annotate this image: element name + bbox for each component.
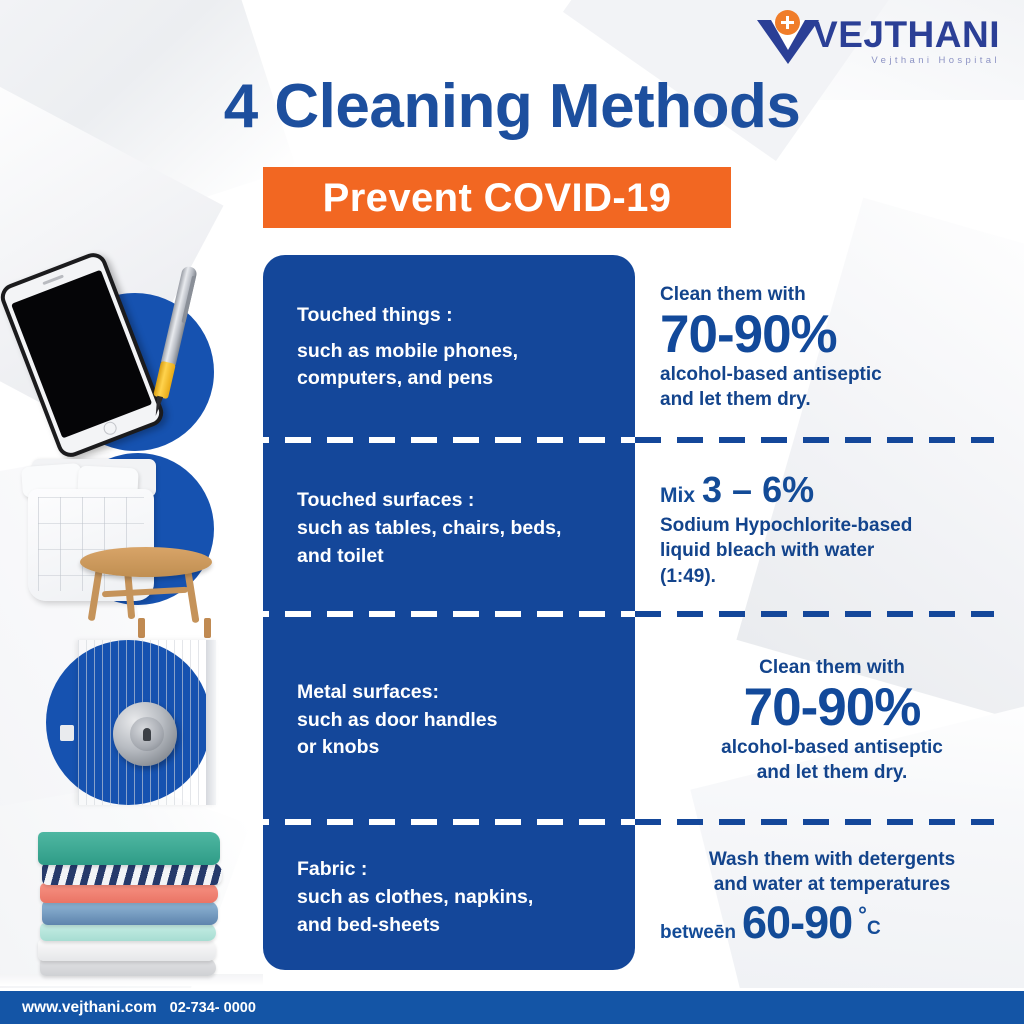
mix-value: 3 – 6% bbox=[702, 469, 814, 511]
folded-clothes-photo bbox=[0, 826, 263, 970]
label-touched-surfaces: Touched surfaces : such as tables, chair… bbox=[263, 443, 635, 615]
wooden-table-icon bbox=[80, 547, 212, 577]
detail-touched-surfaces: Mix 3 – 6% Sodium Hypochlorite-based liq… bbox=[635, 443, 1024, 615]
logo-brand-subtitle: Vejthani Hospital bbox=[813, 55, 1000, 66]
subtitle-text: Prevent COVID-19 bbox=[323, 178, 672, 218]
medical-cross-icon bbox=[775, 10, 800, 35]
detail-body-text: Sodium Hypochlorite-based liquid bleach … bbox=[660, 513, 1004, 588]
detail-body-text: alcohol-based antiseptic and let them dr… bbox=[660, 735, 1004, 785]
detail-big-value: 70-90% bbox=[660, 308, 1004, 362]
method-row-touched-surfaces: Touched surfaces : such as tables, chair… bbox=[0, 443, 1024, 615]
door-knob-photo bbox=[0, 618, 263, 823]
smartphone-icon bbox=[0, 249, 167, 461]
vejthani-logo: VEJTHANI Vejthani Hospital bbox=[757, 12, 1000, 70]
degree-symbol-icon: ° bbox=[858, 902, 867, 928]
detail-mix-line: Mix 3 – 6% bbox=[660, 469, 1004, 511]
detail-touched-things: Clean them with 70-90% alcohol-based ant… bbox=[635, 255, 1024, 440]
detail-fabric: Wash them with detergents and water at t… bbox=[635, 826, 1024, 970]
label-touched-things: Touched things : such as mobile phones, … bbox=[263, 255, 635, 440]
detail-body-text: Wash them with detergents and water at t… bbox=[660, 847, 1004, 897]
label-examples: such as tables, chairs, beds, and toilet bbox=[297, 515, 603, 570]
infographic-poster: VEJTHANI Vejthani Hospital 4 Cleaning Me… bbox=[0, 0, 1024, 1024]
footer-bar: www.vejthani.com 02-734- 0000 bbox=[0, 988, 1024, 1024]
footer-phone-number[interactable]: 02-734- 0000 bbox=[170, 1000, 256, 1016]
label-heading: Fabric : bbox=[297, 856, 603, 884]
phone-and-pen-photo bbox=[0, 255, 263, 440]
subtitle-banner: Prevent COVID-19 bbox=[263, 167, 731, 228]
method-row-metal-surfaces: Metal surfaces: such as door handles or … bbox=[0, 618, 1024, 823]
keyhole-icon bbox=[143, 728, 151, 741]
logo-brand-name: VEJTHANI bbox=[813, 16, 1000, 53]
label-heading: Touched surfaces : bbox=[297, 487, 603, 515]
temperature-value: 60-90 bbox=[742, 897, 852, 949]
label-heading: Touched things : bbox=[297, 302, 603, 330]
label-metal-surfaces: Metal surfaces: such as door handles or … bbox=[263, 618, 635, 823]
row-divider-2 bbox=[263, 611, 994, 617]
method-row-fabric: Fabric : such as clothes, napkins, and b… bbox=[0, 826, 1024, 970]
detail-body-text: alcohol-based antiseptic and let them dr… bbox=[660, 362, 1004, 412]
bed-duvet-icon bbox=[28, 489, 154, 601]
label-examples: such as mobile phones, computers, and pe… bbox=[297, 338, 603, 393]
detail-temperature-line: betweēn 60-90 ° C bbox=[660, 897, 1004, 949]
method-row-touched-things: Touched things : such as mobile phones, … bbox=[0, 255, 1024, 440]
detail-big-value: 70-90% bbox=[660, 681, 1004, 735]
footer-website-link[interactable]: www.vejthani.com bbox=[22, 999, 157, 1017]
page-title: 4 Cleaning Methods bbox=[0, 76, 1024, 138]
logo-v-mark-icon bbox=[757, 12, 819, 64]
label-fabric: Fabric : such as clothes, napkins, and b… bbox=[263, 826, 635, 970]
label-examples: such as clothes, napkins, and bed-sheets bbox=[297, 884, 603, 939]
folded-clothes-icon bbox=[38, 832, 220, 865]
label-examples: such as door handles or knobs bbox=[297, 707, 603, 762]
bed-and-table-photo bbox=[0, 443, 263, 615]
temperature-unit: C bbox=[867, 918, 881, 940]
label-heading: Metal surfaces: bbox=[297, 679, 603, 707]
row-divider-3 bbox=[263, 819, 994, 825]
detail-metal-surfaces: Clean them with 70-90% alcohol-based ant… bbox=[635, 618, 1024, 823]
mix-label: Mix bbox=[660, 484, 695, 508]
temperature-label: betweēn bbox=[660, 922, 736, 944]
